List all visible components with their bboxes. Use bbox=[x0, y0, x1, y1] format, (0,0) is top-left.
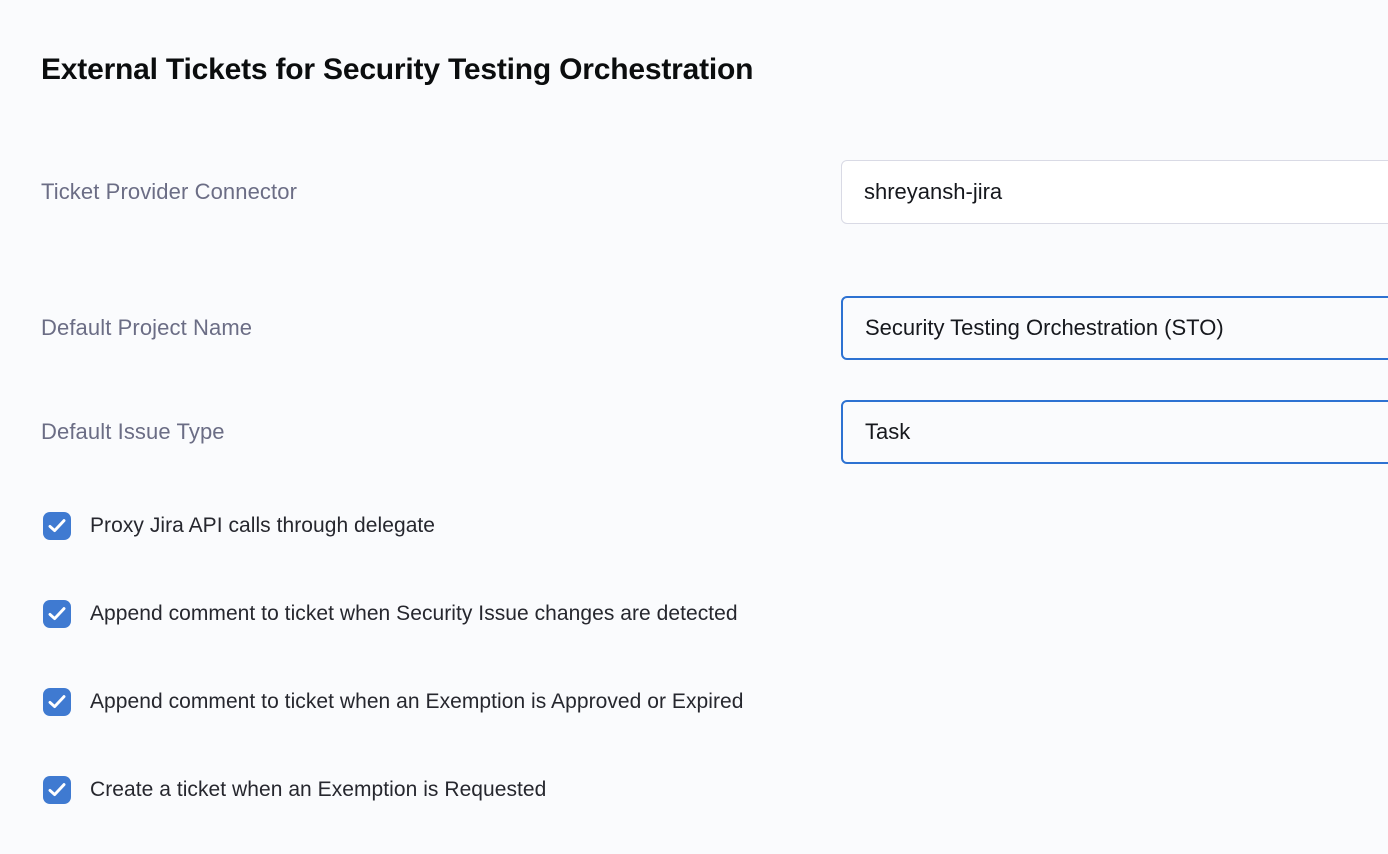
input-default-issue-type[interactable]: Task bbox=[841, 400, 1388, 464]
settings-panel: External Tickets for Security Testing Or… bbox=[0, 0, 1388, 854]
label-default-issue-type: Default Issue Type bbox=[41, 400, 225, 464]
form-row-default-project-name: Default Project Name Security Testing Or… bbox=[0, 296, 1388, 360]
checkbox-list: Proxy Jira API calls through delegate Ap… bbox=[0, 498, 1388, 850]
label-default-project-name: Default Project Name bbox=[41, 296, 252, 360]
checkbox-label-create-ticket-exemption: Create a ticket when an Exemption is Req… bbox=[90, 775, 546, 805]
label-ticket-provider-connector: Ticket Provider Connector bbox=[41, 160, 297, 224]
check-icon bbox=[48, 694, 66, 710]
checkbox-append-comment-exemption[interactable] bbox=[43, 688, 71, 716]
checkbox-row-create-ticket-exemption[interactable]: Create a ticket when an Exemption is Req… bbox=[0, 762, 1388, 850]
checkbox-row-append-comment-security-issue[interactable]: Append comment to ticket when Security I… bbox=[0, 586, 1388, 674]
check-icon bbox=[48, 782, 66, 798]
checkbox-label-proxy-jira-api: Proxy Jira API calls through delegate bbox=[90, 511, 435, 541]
checkbox-label-append-comment-exemption: Append comment to ticket when an Exempti… bbox=[90, 687, 743, 717]
form-row-ticket-provider-connector: Ticket Provider Connector shreyansh-jira bbox=[0, 160, 1388, 224]
checkbox-label-append-comment-security-issue: Append comment to ticket when Security I… bbox=[90, 599, 738, 629]
checkbox-append-comment-security-issue[interactable] bbox=[43, 600, 71, 628]
check-icon bbox=[48, 518, 66, 534]
page-title: External Tickets for Security Testing Or… bbox=[41, 48, 753, 92]
checkbox-proxy-jira-api[interactable] bbox=[43, 512, 71, 540]
check-icon bbox=[48, 606, 66, 622]
checkbox-row-proxy-jira-api[interactable]: Proxy Jira API calls through delegate bbox=[0, 498, 1388, 586]
form-row-default-issue-type: Default Issue Type Task bbox=[0, 400, 1388, 464]
checkbox-row-append-comment-exemption[interactable]: Append comment to ticket when an Exempti… bbox=[0, 674, 1388, 762]
input-default-project-name[interactable]: Security Testing Orchestration (STO) bbox=[841, 296, 1388, 360]
checkbox-create-ticket-exemption[interactable] bbox=[43, 776, 71, 804]
input-ticket-provider-connector[interactable]: shreyansh-jira bbox=[841, 160, 1388, 224]
